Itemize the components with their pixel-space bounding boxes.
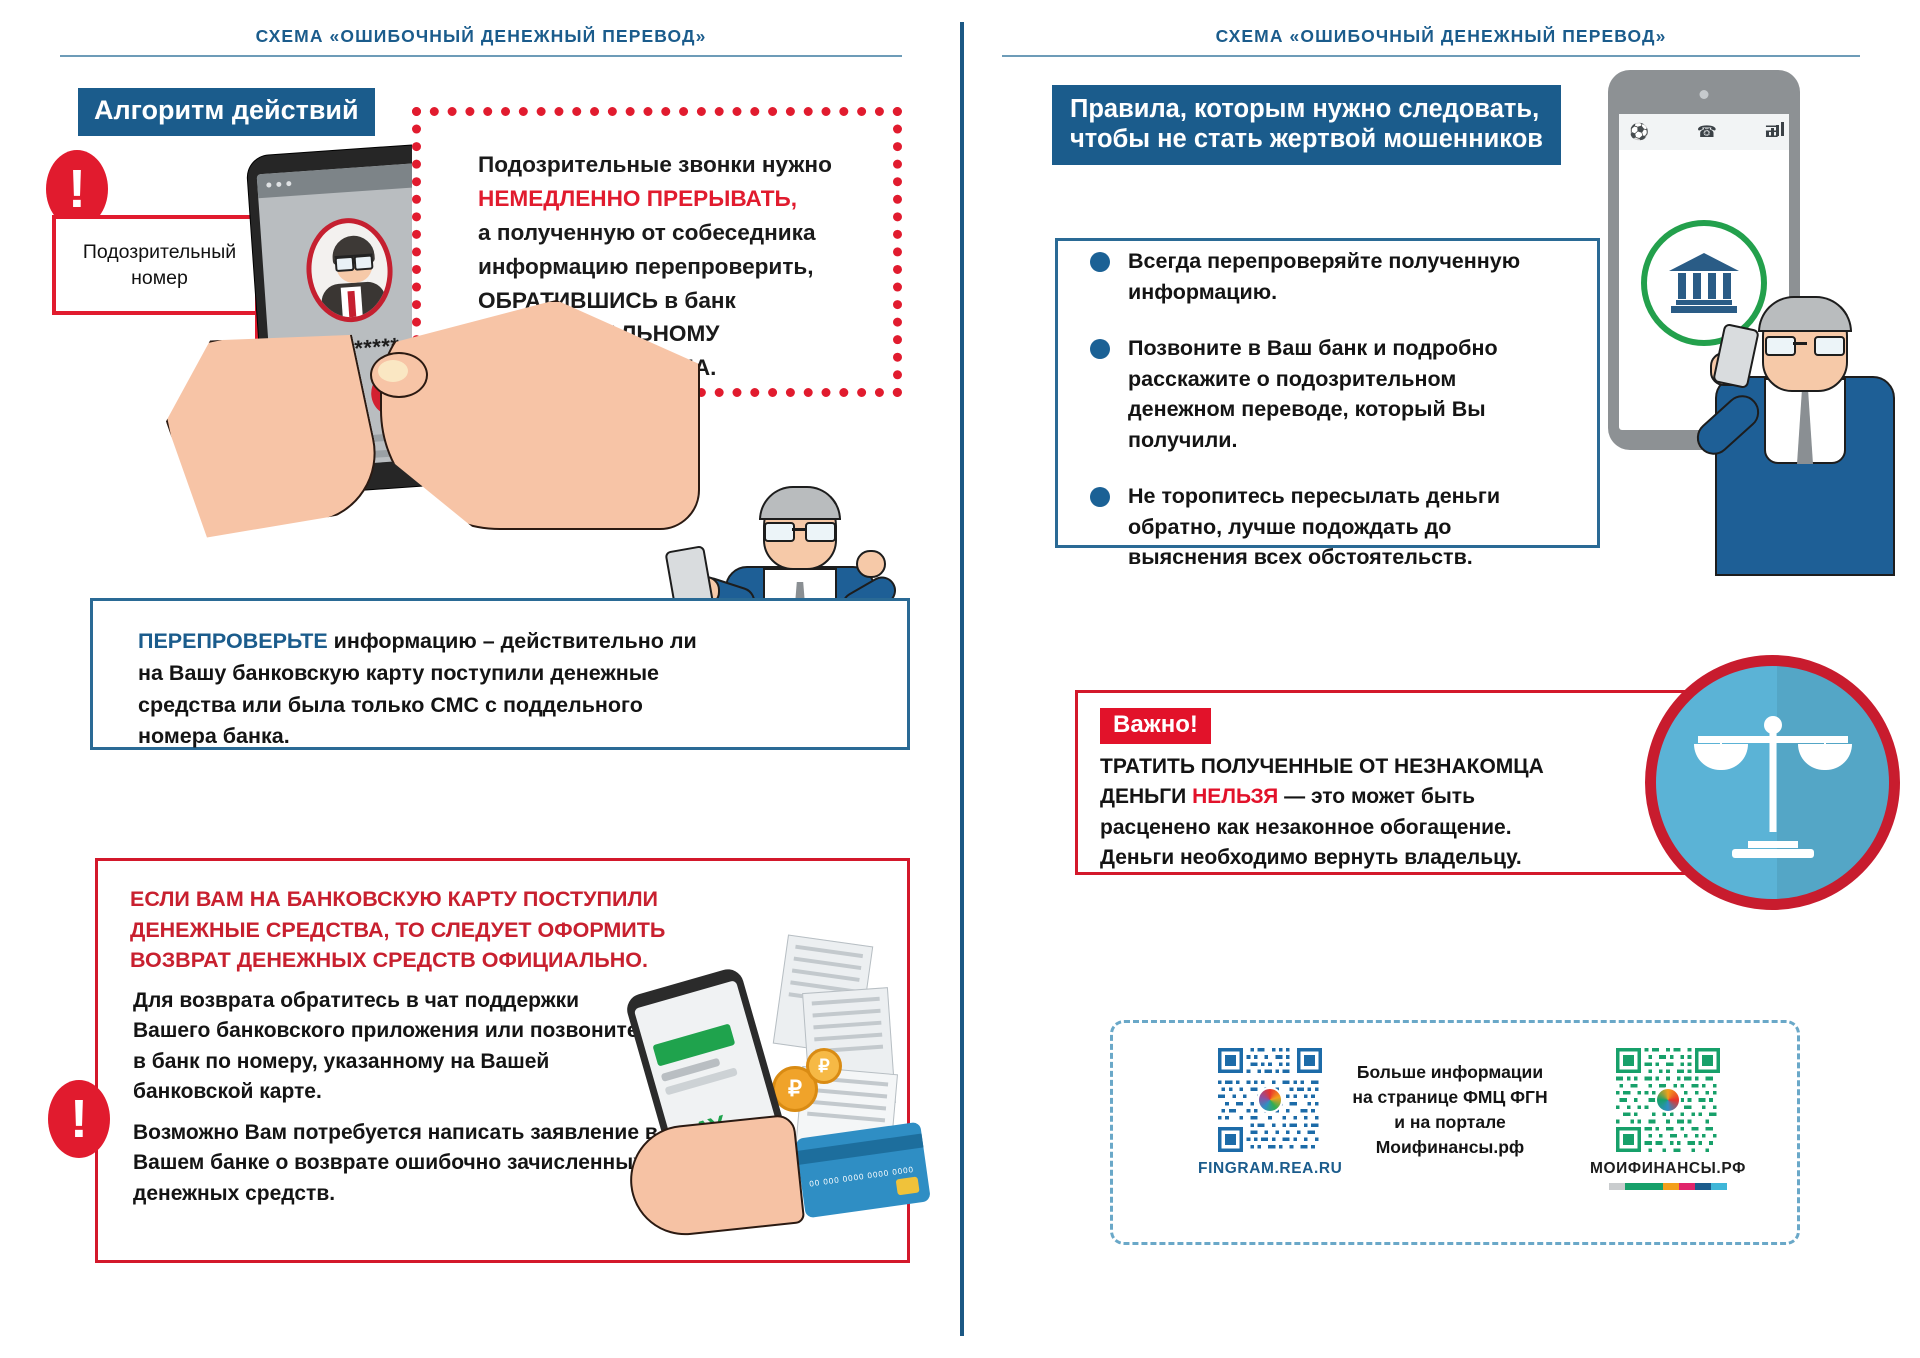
important-line-4: Деньги необходимо вернуть владельцу. [1100, 846, 1522, 869]
right-header-rule [1002, 55, 1860, 57]
right-header: СХЕМА «ОШИБОЧНЫЙ ДЕНЕЖНЫЙ ПЕРЕВОД» [962, 0, 1920, 64]
left-header: СХЕМА «ОШИБОЧНЫЙ ДЕНЕЖНЫЙ ПЕРЕВОД» [0, 0, 962, 64]
phone-menu-dots-icon [266, 181, 291, 188]
important-badge: Важно! [1100, 708, 1211, 744]
support-headset-icon: ⚽ [1629, 122, 1649, 142]
important-line-3: расценено как незаконное обогащение. [1100, 816, 1512, 839]
recheck-highlight: ПЕРЕПРОВЕРЬТЕ [138, 629, 328, 653]
rule-item: Не торопитесь пересылать деньги обратно,… [1090, 481, 1560, 573]
qr-center-logo [1257, 1087, 1283, 1113]
phone-camera-icon [1700, 90, 1709, 99]
important-line-1: ТРАТИТЬ ПОЛУЧЕННЫЕ ОТ НЕЗНАКОМЦА [1100, 755, 1544, 778]
caller-avatar [303, 215, 396, 325]
ruble-coin-small: ₽ [806, 1048, 842, 1084]
refund-paragraph-1: Для возврата обратитесь в чат поддержки … [133, 986, 643, 1108]
call-icon: ☎ [1697, 122, 1717, 142]
man-calling-bank-illustration [1700, 300, 1910, 600]
left-header-rule [60, 55, 902, 57]
brand-color-stripe [1609, 1183, 1727, 1190]
fingernail-illustration [378, 360, 408, 382]
qr-fingram-caption: FINGRAM.REA.RU [1198, 1160, 1342, 1178]
signal-bars-icon [1766, 122, 1784, 136]
refund-paragraph-2: Возможно Вам потребуется написать заявле… [133, 1118, 673, 1209]
important-text: ТРАТИТЬ ПОЛУЧЕННЫЕ ОТ НЕЗНАКОМЦА ДЕНЬГИ … [1100, 752, 1680, 874]
rule-text: Не торопитесь пересылать деньги обратно,… [1128, 481, 1560, 573]
payment-hand-illustration [625, 1113, 806, 1240]
callout-line-1: Подозрительные звонки нужно [478, 148, 878, 182]
qr-code-icon-moifinansy[interactable] [1616, 1048, 1720, 1152]
bullet-icon [1090, 487, 1110, 507]
rule-text: Позвоните в Ваш банк и подробно расскажи… [1128, 333, 1560, 455]
qr-moifinansy[interactable]: МОИФИНАНСЫ.РФ [1590, 1048, 1746, 1190]
exclamation-icon-secondary: ! [48, 1080, 110, 1158]
left-panel: СХЕМА «ОШИБОЧНЫЙ ДЕНЕЖНЫЙ ПЕРЕВОД» Алгор… [0, 0, 962, 1358]
right-header-title: СХЕМА «ОШИБОЧНЫЙ ДЕНЕЖНЫЙ ПЕРЕВОД» [962, 26, 1920, 47]
important-line-2-pre: ДЕНЬГИ [1100, 785, 1192, 808]
qr-center-text: Больше информации на странице ФМЦ ФГН и … [1330, 1060, 1570, 1159]
panel-divider [960, 22, 964, 1336]
qr-code-icon-fingram[interactable] [1218, 1048, 1322, 1152]
qr-center-logo [1655, 1087, 1681, 1113]
rules-list: Всегда перепроверяйте полученную информа… [1090, 246, 1560, 599]
infographic-page: СХЕМА «ОШИБОЧНЫЙ ДЕНЕЖНЫЙ ПЕРЕВОД» Алгор… [0, 0, 1920, 1358]
bullet-icon [1090, 339, 1110, 359]
qr-moifinansy-caption: МОИФИНАНСЫ.РФ [1590, 1160, 1746, 1178]
justice-scales-badge [1645, 655, 1900, 910]
ribbon-algorithm: Алгоритм действий [78, 88, 375, 136]
phone-topbar [257, 162, 430, 198]
qr-center-line-4: Моифинансы.рф [1330, 1135, 1570, 1160]
rule-item: Всегда перепроверяйте полученную информа… [1090, 246, 1560, 307]
important-line-2-post: — это может быть [1278, 785, 1475, 808]
rule-text: Всегда перепроверяйте полученную информа… [1128, 246, 1560, 307]
bank-app-toolbar: ⚽ ☎ ☰ [1619, 114, 1789, 150]
bank-card-illustration: 00 000 0000 0000 0000 [795, 1122, 931, 1219]
payment-illustration: ∾ ₽ ₽ PAY 00 000 0000 0000 0000 [630, 940, 920, 1220]
recheck-text: ПЕРЕПРОВЕРЬТЕ информацию – действительно… [138, 626, 718, 753]
bullet-icon [1090, 252, 1110, 272]
qr-center-line-1: Больше информации [1330, 1060, 1570, 1085]
important-line-2-red: НЕЛЬЗЯ [1192, 785, 1278, 808]
callout-line-3: а полученную от собеседника [478, 216, 878, 250]
callout-line-2: НЕМЕДЛЕННО ПРЕРЫВАТЬ, [478, 182, 878, 216]
qr-center-line-3: и на портале [1330, 1110, 1570, 1135]
callout-line-4: информацию перепроверить, [478, 250, 878, 284]
left-header-title: СХЕМА «ОШИБОЧНЫЙ ДЕНЕЖНЫЙ ПЕРЕВОД» [0, 26, 962, 47]
rule-item: Позвоните в Ваш банк и подробно расскажи… [1090, 333, 1560, 455]
qr-center-line-2: на странице ФМЦ ФГН [1330, 1085, 1570, 1110]
scales-icon [1698, 714, 1848, 864]
holding-hand-illustration [151, 311, 388, 548]
ribbon-rules: Правила, которым нужно следовать, чтобы … [1052, 85, 1561, 165]
qr-fingram[interactable]: FINGRAM.REA.RU [1198, 1048, 1342, 1178]
suspicious-number-label: Подозрительный номер [52, 215, 267, 315]
